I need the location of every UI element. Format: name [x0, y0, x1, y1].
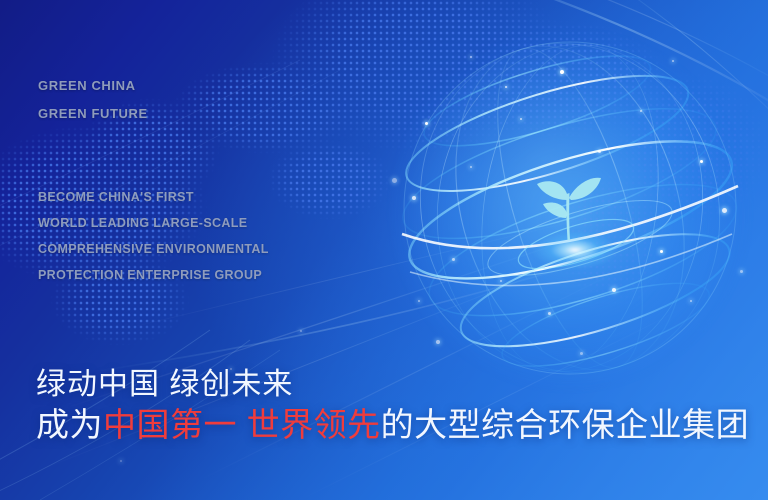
hero-banner: GREEN CHINA GREEN FUTURE BECOME CHINA'S … [0, 0, 768, 500]
headline-prefix: 成为 [36, 406, 103, 443]
mission-statement-block: BECOME CHINA'S FIRST WORLD LEADING LARGE… [38, 184, 269, 288]
headline-highlight: 中国第一 世界领先 [103, 406, 381, 443]
tagline-line-1: GREEN CHINA [38, 72, 148, 100]
headline-line-1: 绿动中国 绿创未来 [36, 366, 749, 404]
headline-suffix: 的大型综合环保企业集团 [381, 406, 750, 443]
headline-line-2: 成为中国第一 世界领先的大型综合环保企业集团 [36, 404, 749, 446]
mission-line-3: COMPREHENSIVE ENVIRONMENTAL [38, 236, 269, 262]
headline-block: 绿动中国 绿创未来 成为中国第一 世界领先的大型综合环保企业集团 [36, 366, 749, 446]
mission-line-2: WORLD LEADING LARGE-SCALE [38, 210, 269, 236]
tagline-block: GREEN CHINA GREEN FUTURE [38, 72, 148, 128]
tagline-line-2: GREEN FUTURE [38, 100, 148, 128]
mission-line-4: PROTECTION ENTERPRISE GROUP [38, 262, 269, 288]
mission-line-1: BECOME CHINA'S FIRST [38, 184, 269, 210]
